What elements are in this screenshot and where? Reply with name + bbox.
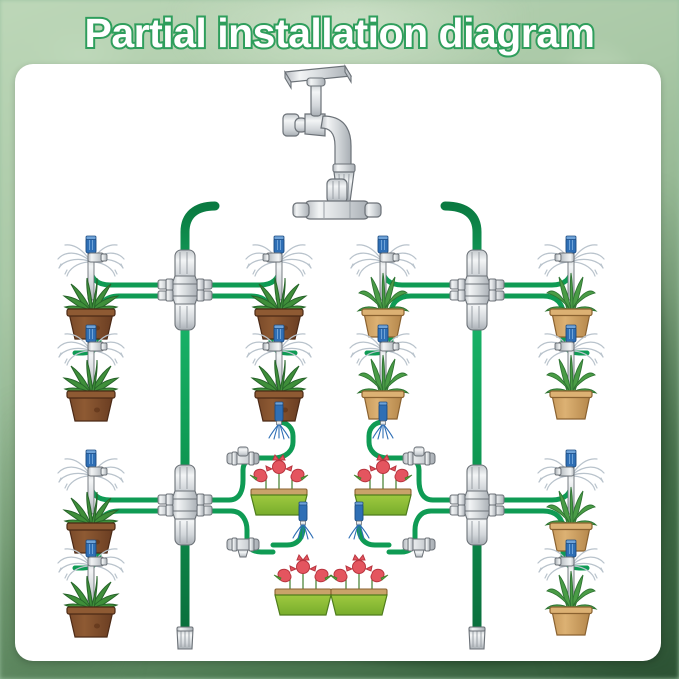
diagram-card xyxy=(15,64,661,661)
watering-point-planter-box-4 xyxy=(330,502,388,615)
plant-grass-icon xyxy=(546,355,596,419)
planter-box-icon xyxy=(274,555,332,615)
irrigation-diagram-svg xyxy=(15,64,661,661)
tee-upper-right-box xyxy=(403,447,435,465)
tee-lower-left-box xyxy=(227,538,259,557)
screenshot-root: Partial installation diagram xyxy=(0,0,679,679)
main-tee-connector xyxy=(293,179,381,219)
manifold-top-right xyxy=(450,250,504,330)
branch-bl-lower-right-to-dripper xyxy=(273,516,303,545)
manifold-top-left xyxy=(158,250,212,330)
watering-point-plant-aloe-2 xyxy=(58,325,124,421)
end-caps xyxy=(177,627,485,649)
end-cap-right xyxy=(469,627,485,649)
end-cap-left xyxy=(177,627,193,649)
plant-grass-icon xyxy=(546,571,596,635)
watering-point-planter-box-2 xyxy=(274,502,332,615)
branch-tl-upper-left xyxy=(91,264,158,285)
hose-network xyxy=(75,182,587,634)
manifold-bottom-left xyxy=(158,465,212,545)
watering-point-plant-grass-6 xyxy=(538,540,604,635)
branch-bl-upper-left xyxy=(91,478,158,500)
water-source xyxy=(283,66,381,219)
watering-point-plant-grass-4 xyxy=(538,325,604,419)
tee-upper-left-box xyxy=(227,447,259,465)
branch-tl-upper-right xyxy=(212,264,279,285)
planter-box-icon xyxy=(330,555,388,615)
manifold-bottom-right xyxy=(450,465,504,545)
manifolds xyxy=(158,250,504,545)
irrigation-diagram xyxy=(15,64,661,661)
tee-lower-right-box xyxy=(403,538,435,557)
page-title: Partial installation diagram xyxy=(0,7,679,59)
watering-point-plant-aloe-6 xyxy=(58,540,124,637)
branch-br-lower-left-to-dripper xyxy=(359,516,389,545)
